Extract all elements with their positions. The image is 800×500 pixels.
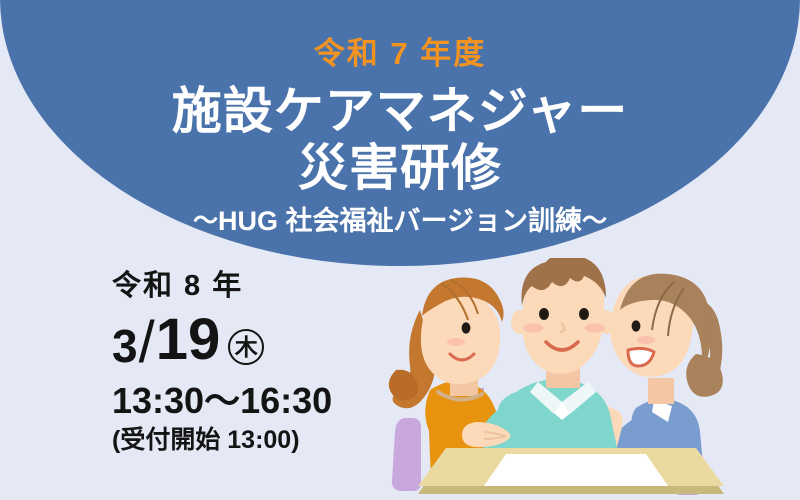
event-date-block: 令和 8 年 3 / 19 木 13:30〜16:30 (受付開始 13:00) [112,272,332,453]
meeting-illustration [388,258,800,500]
wave-right-glyph: 〜 [582,207,607,235]
title-line-2: 災害研修 [0,140,800,197]
subtitle-text: HUG 社会福祉バージョン訓練 [218,206,582,236]
reception-time: (受付開始 13:00) [112,428,332,453]
page-title: 施設ケアマネジャー 災害研修 [0,83,800,197]
date-day: 19 [156,311,221,369]
paper-document [484,454,668,486]
event-time-range: 13:30〜16:30 [112,383,332,419]
chair-left-icon [392,418,421,491]
date-era-label: 令和 8 年 [112,272,332,301]
meeting-table [418,448,724,494]
poster-canvas: 令和 7 年度 施設ケアマネジャー 災害研修 〜HUG 社会福祉バージョン訓練〜… [0,0,800,500]
wave-left-glyph: 〜 [193,207,218,235]
date-month: 3 [112,323,138,369]
date-day-row: 3 / 19 木 [112,311,332,369]
title-line-1: 施設ケアマネジャー [172,83,629,139]
header-text-block: 令和 7 年度 施設ケアマネジャー 災害研修 〜HUG 社会福祉バージョン訓練〜 [0,0,800,235]
day-of-week-badge: 木 [228,329,264,365]
subtitle: 〜HUG 社会福祉バージョン訓練〜 [0,208,800,235]
date-separator: / [139,314,155,372]
era-label: 令和 7 年度 [0,38,800,69]
